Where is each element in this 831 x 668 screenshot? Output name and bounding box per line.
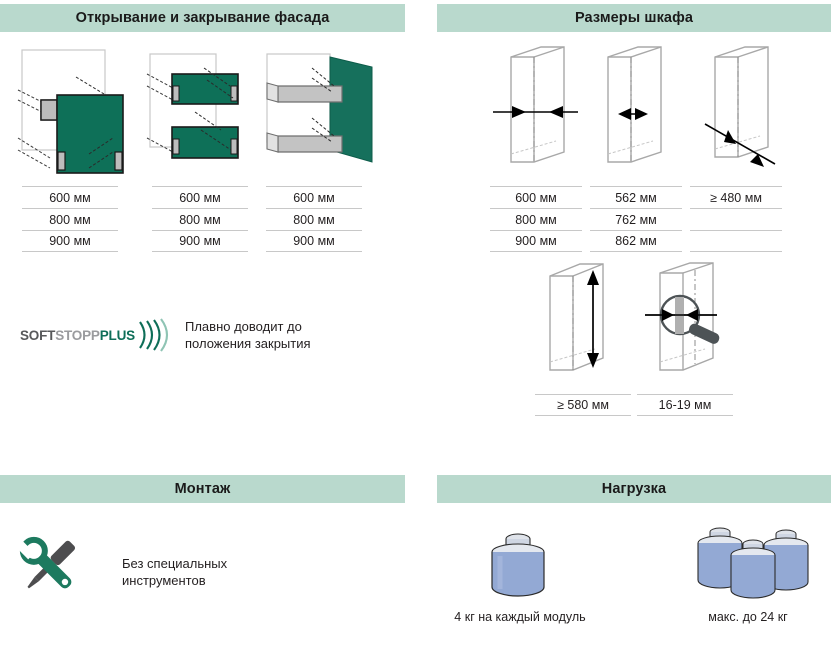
widths-col-1: 600 мм 800 мм 900 мм [22,186,118,252]
cabinet-height-table: ≥ 580 мм [535,394,631,416]
logo-part-soft: SOFT [20,328,55,343]
cabinet-inner-width-figure [600,42,710,182]
table-row: 762 мм [590,208,682,230]
table-row: 600 мм [490,186,582,208]
section-facade: Открывание и закрывание фасада [0,4,405,32]
sound-waves-icon [136,318,170,352]
table-row: ≥ 480 мм [690,186,782,208]
section-load-title: Нагрузка [437,475,831,503]
weight-single-icon [478,525,558,610]
soft-close-caption-line1: Плавно доводит до [185,318,385,335]
section-dimensions-title: Размеры шкафа [437,4,831,32]
weight-group-icon [688,520,818,610]
soft-close-caption: Плавно доводит до положения закрытия [185,318,385,352]
table-row: 862 мм [590,230,682,252]
section-mounting: Монтаж [0,475,405,503]
table-row: ≥ 580 мм [535,394,631,416]
facade-figure-bi-fold [145,42,265,182]
facade-figure-lift-up [10,42,135,182]
widths-col-3: 600 мм 800 мм 900 мм [266,186,362,252]
section-facade-title: Открывание и закрывание фасада [0,4,405,32]
load-group-caption: макс. до 24 кг [668,610,828,624]
table-row: 600 мм [266,186,362,208]
section-mounting-title: Монтаж [0,475,405,503]
section-load: Нагрузка [437,475,831,503]
table-row: 900 мм [152,230,248,252]
section-dimensions: Размеры шкафа [437,4,831,32]
soft-stopp-plus-logo: SOFTSTOPPPLUS [20,318,170,352]
panel-thickness-figure [645,258,755,383]
load-single-caption: 4 кг на каждый модуль [430,610,610,624]
table-row: 800 мм [490,208,582,230]
widths-col-2: 600 мм 800 мм 900 мм [152,186,248,252]
tools-icon [8,525,88,605]
mounting-caption-line1: Без специальных [122,555,332,572]
cabinet-depth-table: ≥ 480 мм [690,186,782,252]
table-row: 562 мм [590,186,682,208]
facade-figure-swing [262,42,387,182]
cabinet-width-table: 600 мм 800 мм 900 мм [490,186,582,252]
mounting-caption-line2: инструментов [122,572,332,589]
table-row: 900 мм [266,230,362,252]
table-row: 900 мм [22,230,118,252]
cabinet-inner-width-table: 562 мм 762 мм 862 мм [590,186,682,252]
spec-sheet: Открывание и закрывание фасада [0,0,831,668]
table-row: 800 мм [22,208,118,230]
cabinet-height-figure [540,258,640,383]
table-row: 600 мм [152,186,248,208]
table-row: 800 мм [152,208,248,230]
soft-close-caption-line2: положения закрытия [185,335,385,352]
table-row [690,230,782,252]
mounting-caption: Без специальных инструментов [122,555,332,589]
cabinet-width-figure [478,42,596,182]
table-row: 600 мм [22,186,118,208]
cabinet-depth-figure [700,42,818,182]
logo-part-plus: PLUS [100,328,135,343]
table-row [690,208,782,230]
logo-text: SOFTSTOPPPLUS [20,328,135,343]
table-row: 900 мм [490,230,582,252]
table-row: 16-19 мм [637,394,733,416]
table-row: 800 мм [266,208,362,230]
logo-part-stopp: STOPP [55,328,100,343]
panel-thickness-table: 16-19 мм [637,394,733,416]
